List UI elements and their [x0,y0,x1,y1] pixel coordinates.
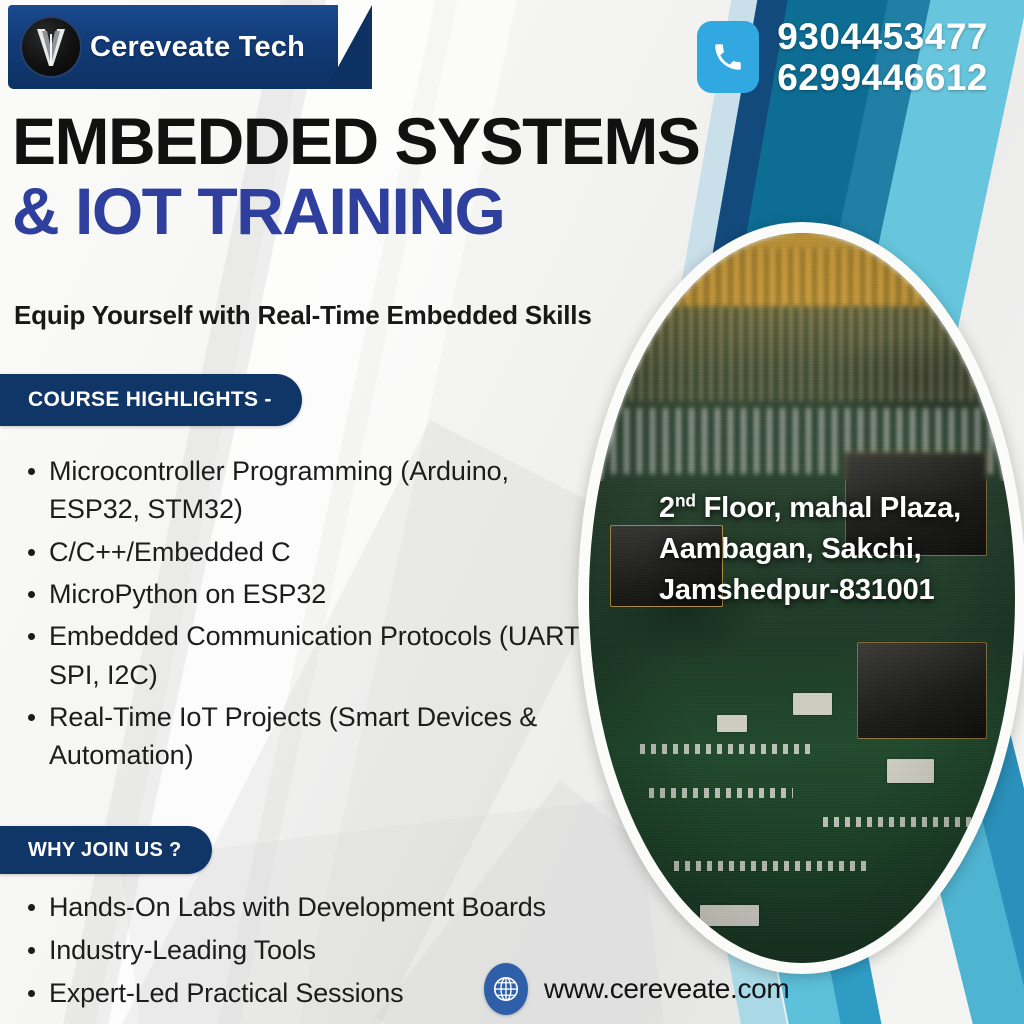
headline-subtitle: Equip Yourself with Real-Time Embedded S… [14,300,592,331]
bullet-dot-icon [28,904,35,911]
pcb-smd-row [640,744,810,754]
pcb-smd-row [649,788,794,798]
poster-canvas: Cereveate Tech 9304453477 6299446612 EMB… [0,0,1024,1024]
list-item: MicroPython on ESP32 [28,575,588,613]
phone-icon [697,21,759,93]
brand-header-bar: Cereveate Tech [8,5,338,89]
list-item: Real-Time IoT Projects (Smart Devices & … [28,698,588,775]
list-item: Embedded Communication Protocols (UART, … [28,617,588,694]
bullet-dot-icon [28,591,35,598]
phone-numbers: 9304453477 6299446612 [777,16,988,99]
list-item-label: Industry-Leading Tools [49,931,316,970]
address-line-1-rest: Floor, mahal Plaza, [696,492,961,524]
brand-name: Cereveate Tech [90,31,305,64]
list-item-label: Microcontroller Programming (Arduino, ES… [49,452,588,529]
list-item-label: C/C++/Embedded C [49,533,291,571]
course-highlights-pill: COURSE HIGHLIGHTS - [0,374,302,426]
bullet-dot-icon [28,468,35,475]
circuit-board-photo: 2nd Floor, mahal Plaza, Aambagan, Sakchi… [578,222,1024,974]
website-url[interactable]: www.cereveate.com [544,973,789,1005]
list-item-label: MicroPython on ESP32 [49,575,326,613]
address-line-1-prefix: 2 [659,492,675,524]
pcb-component [700,905,760,927]
phone-number-secondary[interactable]: 6299446612 [777,57,988,98]
address-line-2: Aambagan, Sakchi, [659,533,922,565]
bullet-dot-icon [28,990,35,997]
bullet-dot-icon [28,947,35,954]
phone-number-primary[interactable]: 9304453477 [777,16,988,57]
bullet-dot-icon [28,633,35,640]
list-item: Hands-On Labs with Development Boards [28,888,588,927]
contact-phone-block[interactable]: 9304453477 6299446612 [697,16,988,99]
headline-line-1: EMBEDDED SYSTEMS [12,108,699,174]
pcb-smd-row [674,861,866,871]
globe-icon [484,963,528,1015]
why-join-us-pill: WHY JOIN US ? [0,826,212,874]
pcb-chip [857,642,987,739]
list-item-label: Expert-Led Practical Sessions [49,974,403,1013]
bullet-dot-icon [28,549,35,556]
list-item: C/C++/Embedded C [28,533,588,571]
list-item-label: Real-Time IoT Projects (Smart Devices & … [49,698,588,775]
address-line-1-sup: nd [675,490,696,510]
address-overlay: 2nd Floor, mahal Plaza, Aambagan, Sakchi… [659,488,989,612]
v-shield-icon [22,18,80,76]
list-item-label: Embedded Communication Protocols (UART, … [49,617,588,694]
list-item: Microcontroller Programming (Arduino, ES… [28,452,588,529]
pcb-component [793,693,831,715]
address-line-3: Jamshedpur-831001 [659,574,934,606]
pcb-component [887,759,934,784]
list-item-label: Hands-On Labs with Development Boards [49,888,546,927]
headline-block: EMBEDDED SYSTEMS & IOT TRAINING [12,108,699,245]
bullet-dot-icon [28,714,35,721]
pcb-blur-layer [589,233,1015,481]
course-highlights-list: Microcontroller Programming (Arduino, ES… [28,452,588,779]
website-footer[interactable]: www.cereveate.com [484,963,789,1015]
pcb-component [717,715,747,733]
pcb-smd-row [823,817,985,827]
